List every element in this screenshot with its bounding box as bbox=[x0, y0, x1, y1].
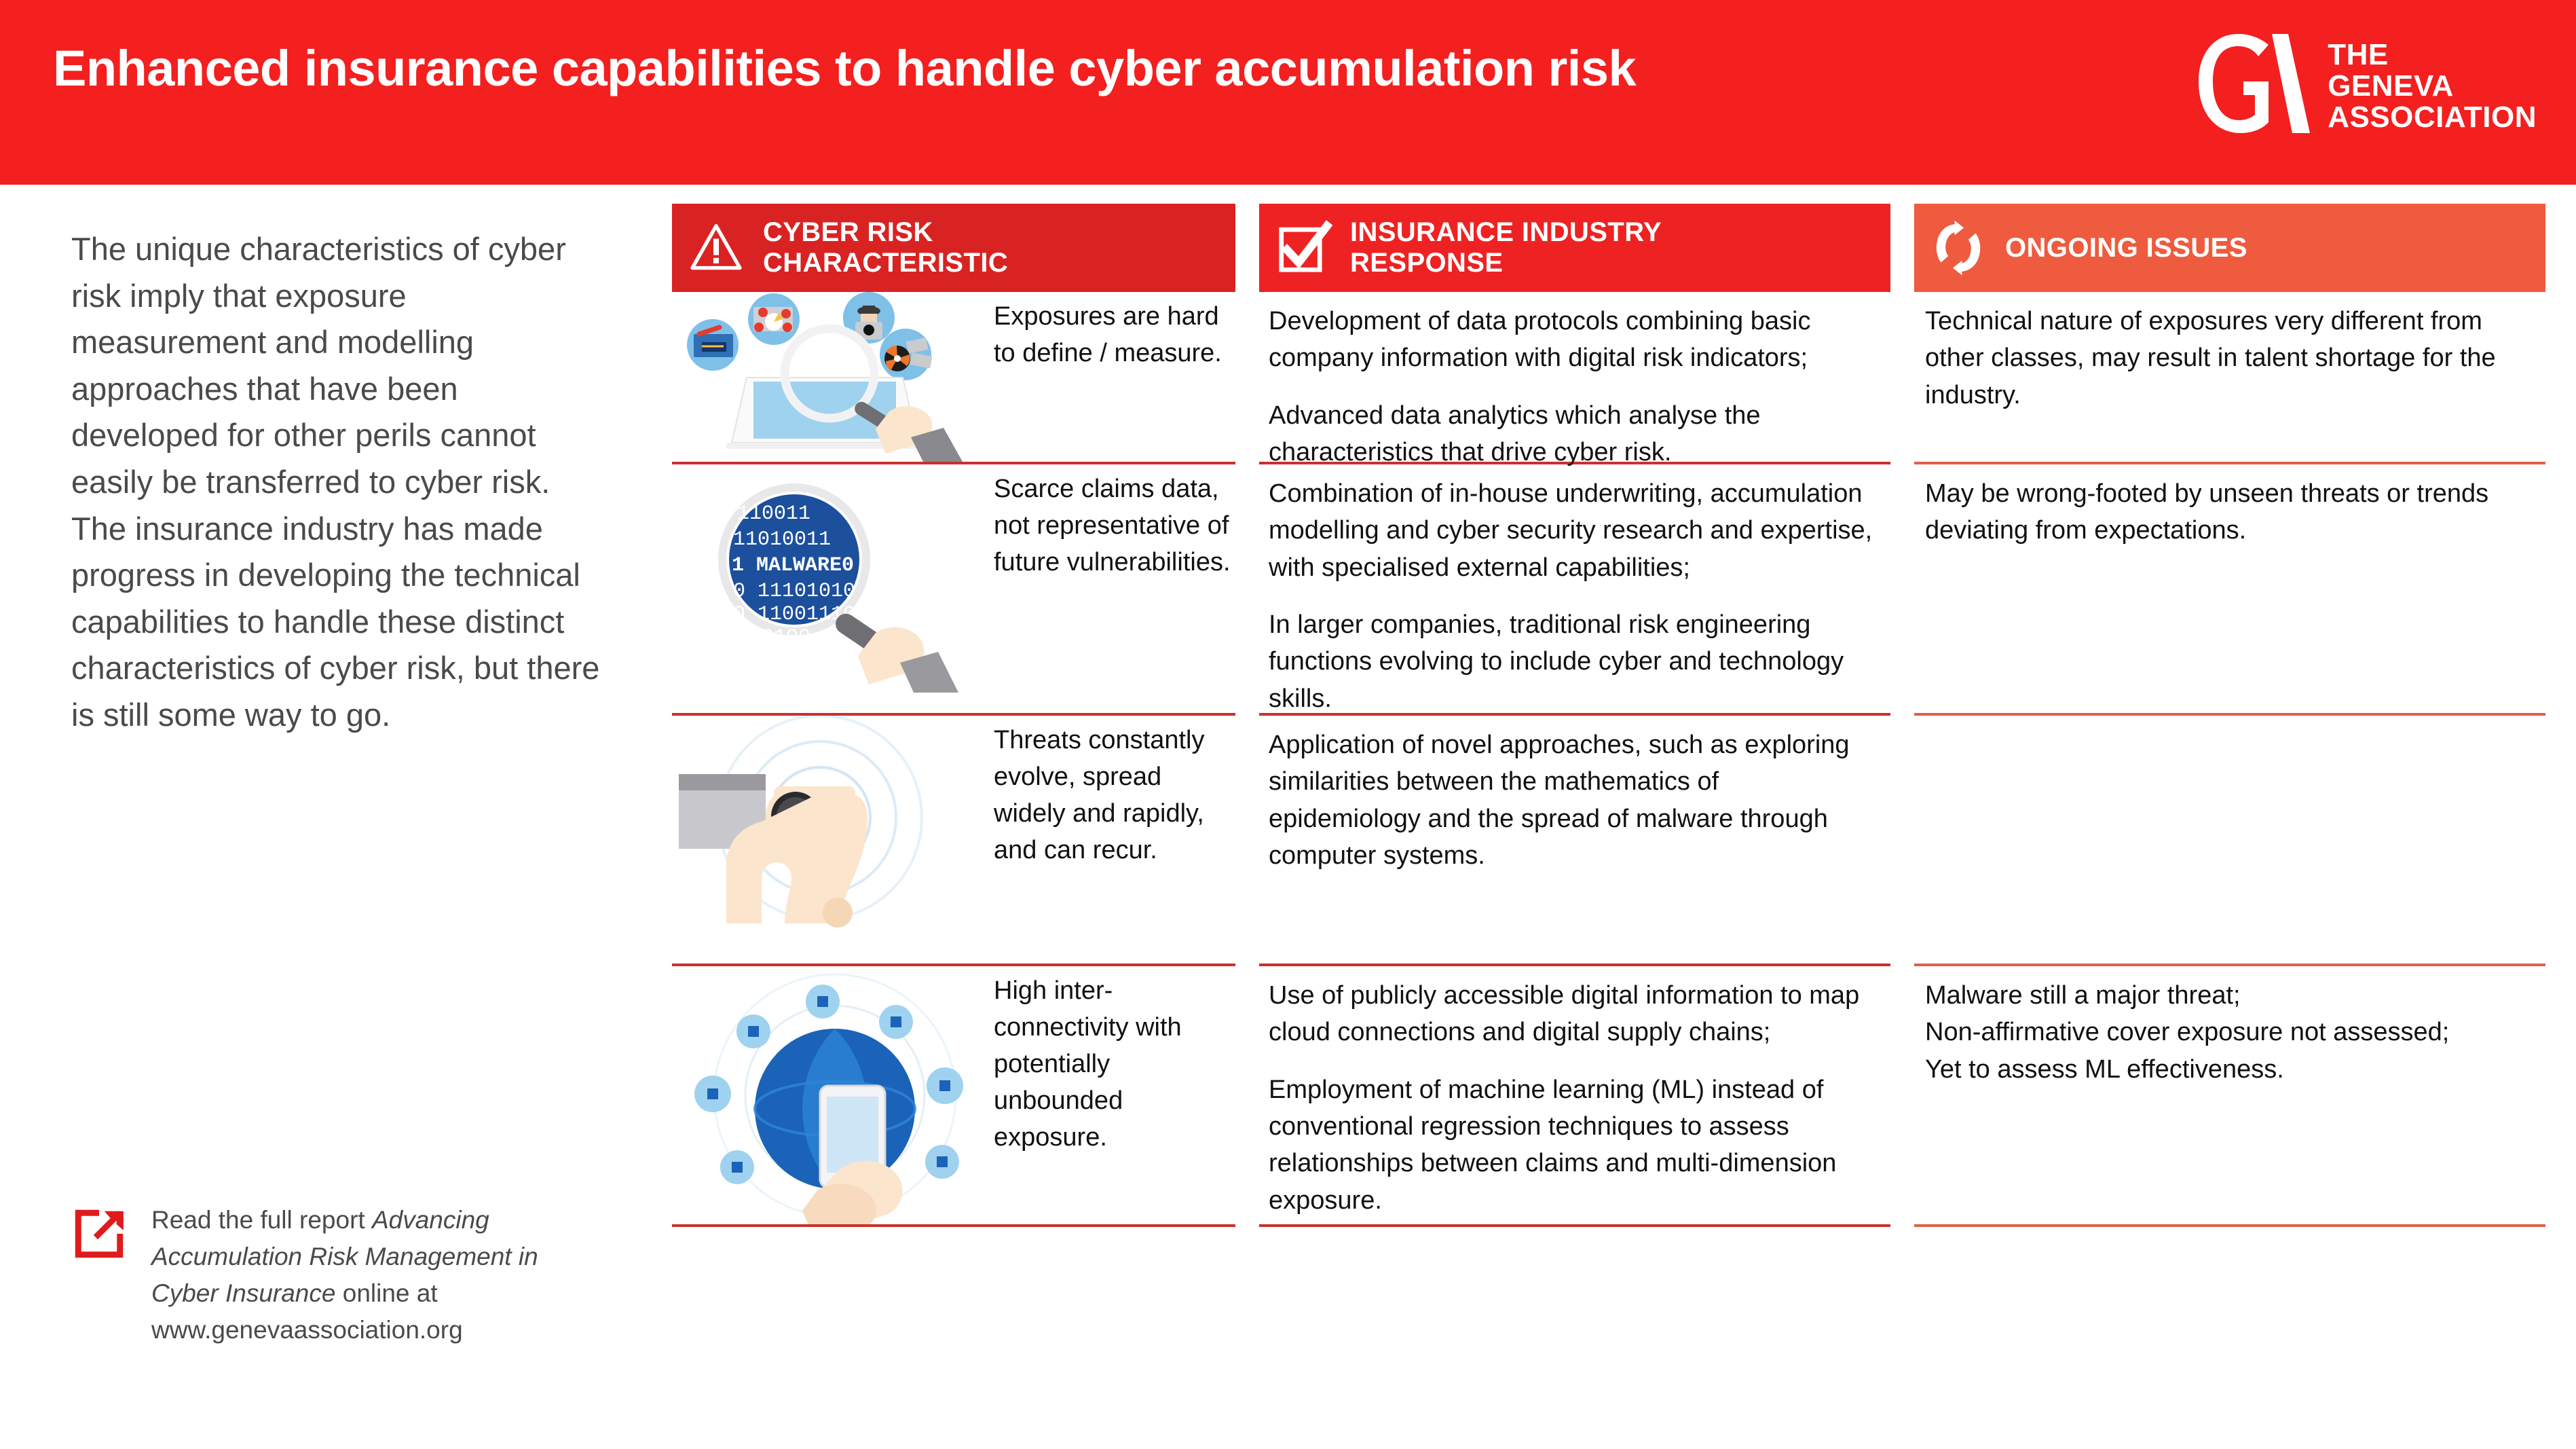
column-header-label: CYBER RISKCHARACTERISTIC bbox=[763, 217, 1008, 278]
row-1-ongoing: Technical nature of exposures very diffe… bbox=[1914, 292, 2545, 462]
illustration-globe-network bbox=[672, 966, 991, 1228]
ongoing-text bbox=[1914, 716, 2545, 727]
logo-line-1: THE bbox=[2328, 39, 2537, 71]
checkbox-check-icon bbox=[1274, 219, 1332, 277]
ongoing-para: Malware still a major threat; bbox=[1925, 977, 2528, 1014]
row-2-response: Combination of in-house underwriting, ac… bbox=[1259, 464, 1890, 713]
report-link[interactable]: Read the full report Advancing Accumulat… bbox=[71, 1202, 608, 1349]
ongoing-text: May be wrong-footed by unseen threats or… bbox=[1914, 464, 2545, 549]
response-para: Advanced data analytics which analyse th… bbox=[1269, 397, 1873, 471]
row-4-characteristic: High inter-connectivity with potentially… bbox=[672, 966, 1235, 1224]
row-2-ongoing: May be wrong-footed by unseen threats or… bbox=[1914, 464, 2545, 713]
response-para: Employment of machine learning (ML) inst… bbox=[1269, 1071, 1873, 1219]
characteristic-text: Threats constantly evolve, spread widely… bbox=[991, 716, 1235, 869]
ongoing-para: Non-affirmative cover exposure not asses… bbox=[1925, 1014, 2528, 1050]
response-text: Combination of in-house underwriting, ac… bbox=[1259, 464, 1890, 717]
characteristic-text: Scarce claims data, not representative o… bbox=[991, 464, 1235, 581]
row-divider bbox=[1259, 1224, 1890, 1227]
response-para: Application of novel approaches, such as… bbox=[1269, 727, 1873, 874]
response-para: Combination of in-house underwriting, ac… bbox=[1269, 475, 1873, 586]
row-1-response: Development of data protocols combining … bbox=[1259, 292, 1890, 462]
ongoing-text: Malware still a major threat; Non-affirm… bbox=[1914, 966, 2545, 1088]
row-1-characteristic: Exposures are hard to define / measure. bbox=[672, 292, 1235, 462]
ongoing-para: Yet to assess ML effectiveness. bbox=[1925, 1051, 2528, 1088]
geneva-association-logo: THE GENEVA ASSOCIATION bbox=[2196, 33, 2537, 151]
svg-text:0 11101010: 0 11101010 bbox=[733, 580, 855, 603]
row-2-characteristic: 110011 11010011 1 MALWARE0 0 11101010 0 … bbox=[672, 464, 1235, 713]
warning-triangle-icon bbox=[687, 219, 745, 277]
svg-text:11010011: 11010011 bbox=[733, 528, 831, 551]
row-4-response: Use of publicly accessible digital infor… bbox=[1259, 966, 1890, 1224]
illustration-smartwatch-signal bbox=[672, 716, 991, 967]
response-text: Application of novel approaches, such as… bbox=[1259, 716, 1890, 874]
column-cyber-risk-characteristic: CYBER RISKCHARACTERISTIC bbox=[672, 204, 1235, 1227]
ongoing-text: Technical nature of exposures very diffe… bbox=[1914, 292, 2545, 414]
report-lead: Read the full report bbox=[151, 1206, 372, 1234]
response-text: Use of publicly accessible digital infor… bbox=[1259, 966, 1890, 1219]
logo-line-2: GENEVA bbox=[2328, 71, 2537, 102]
response-para: Use of publicly accessible digital infor… bbox=[1269, 977, 1873, 1051]
column-ongoing-issues: ONGOING ISSUES Technical nature of expos… bbox=[1914, 204, 2545, 1227]
ongoing-para: May be wrong-footed by unseen threats or… bbox=[1925, 475, 2528, 549]
row-3-ongoing bbox=[1914, 716, 2545, 964]
page-header: Enhanced insurance capabilities to handl… bbox=[0, 0, 2576, 185]
response-para: In larger companies, traditional risk en… bbox=[1269, 606, 1873, 717]
column-header-cyber-risk: CYBER RISKCHARACTERISTIC bbox=[672, 204, 1235, 292]
ga-monogram-icon bbox=[2196, 33, 2310, 141]
logo-wordmark: THE GENEVA ASSOCIATION bbox=[2328, 33, 2537, 132]
response-para: Development of data protocols combining … bbox=[1269, 303, 1873, 377]
ongoing-para: Technical nature of exposures very diffe… bbox=[1925, 303, 2528, 414]
svg-text:110011: 110011 bbox=[737, 502, 810, 526]
report-link-text: Read the full report Advancing Accumulat… bbox=[151, 1202, 608, 1349]
logo-line-3: ASSOCIATION bbox=[2328, 102, 2537, 133]
illustration-magnifier-malware: 110011 11010011 1 MALWARE0 0 11101010 0 … bbox=[672, 464, 991, 716]
column-insurance-industry-response: INSURANCE INDUSTRYRESPONSE Development o… bbox=[1259, 204, 1890, 1227]
characteristic-text: Exposures are hard to define / measure. bbox=[991, 292, 1235, 372]
characteristic-text: High inter-connectivity with potentially… bbox=[991, 966, 1235, 1156]
column-header-label: ONGOING ISSUES bbox=[2005, 233, 2247, 263]
column-header-ongoing-issues: ONGOING ISSUES bbox=[1914, 204, 2545, 292]
external-link-icon bbox=[71, 1206, 127, 1262]
intro-paragraph: The unique characteristics of cyber risk… bbox=[71, 226, 608, 739]
illustration-laptop-magnifier bbox=[672, 292, 991, 465]
row-3-characteristic: Threats constantly evolve, spread widely… bbox=[672, 716, 1235, 964]
refresh-cycle-icon bbox=[1929, 219, 1987, 277]
row-4-ongoing: Malware still a major threat; Non-affirm… bbox=[1914, 966, 2545, 1224]
response-text: Development of data protocols combining … bbox=[1259, 292, 1890, 471]
svg-text:110100: 110100 bbox=[737, 626, 810, 649]
row-3-response: Application of novel approaches, such as… bbox=[1259, 716, 1890, 964]
column-header-label: INSURANCE INDUSTRYRESPONSE bbox=[1350, 217, 1662, 278]
page-title: Enhanced insurance capabilities to handl… bbox=[53, 39, 1636, 97]
row-divider bbox=[1914, 1224, 2545, 1227]
svg-text:1 MALWARE0: 1 MALWARE0 bbox=[732, 554, 854, 577]
column-header-insurance-response: INSURANCE INDUSTRYRESPONSE bbox=[1259, 204, 1890, 292]
